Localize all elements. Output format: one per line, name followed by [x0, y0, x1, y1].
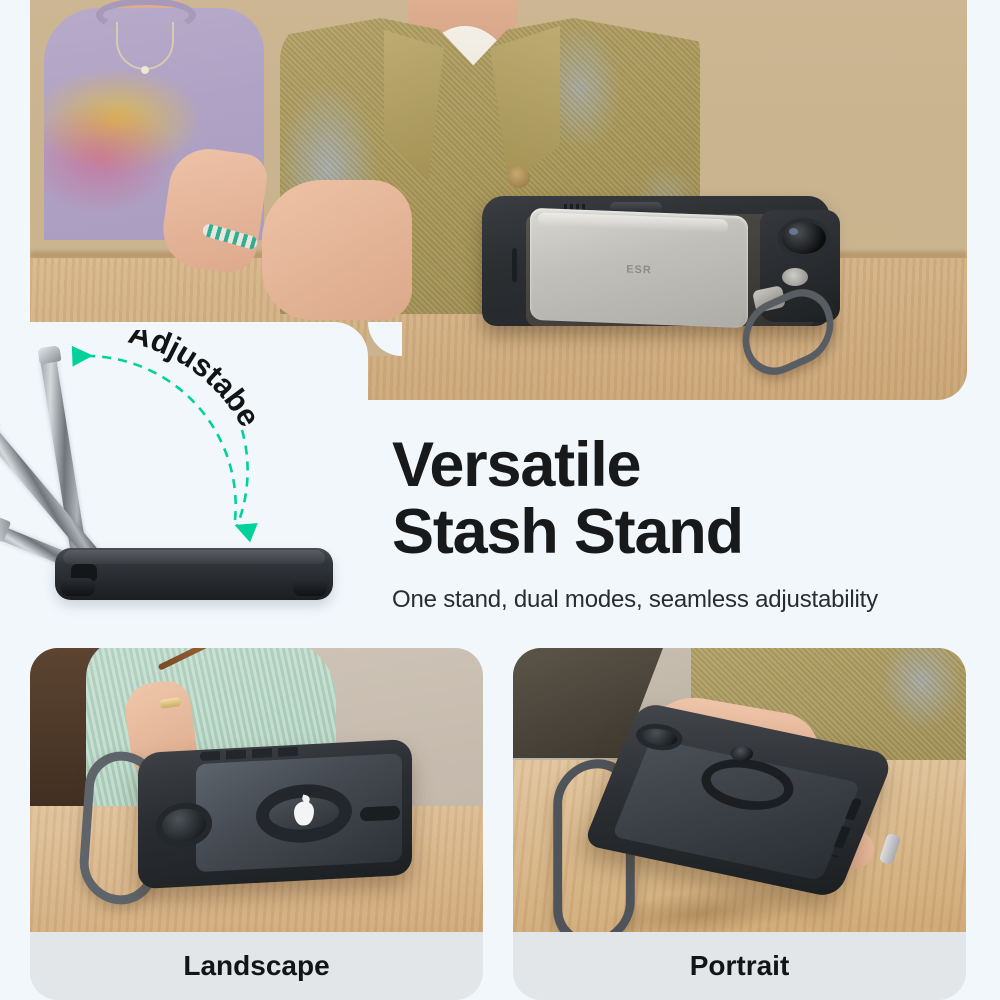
mode-cards: Landscape Portrait — [30, 648, 967, 1000]
dashed-arc-to-down-arrow — [237, 430, 248, 526]
card-landscape: Landscape — [30, 648, 483, 1000]
phone-in-case-landscape — [138, 739, 412, 889]
base-foot-right — [293, 578, 327, 596]
person-left — [38, 0, 268, 240]
pendant — [141, 66, 149, 74]
arm — [262, 180, 412, 320]
magnetic-power-bank: ESR — [530, 208, 748, 328]
ring — [879, 833, 902, 866]
card-caption-landscape: Landscape — [30, 932, 483, 1000]
accessory-slot — [360, 805, 400, 821]
card-photo — [513, 648, 966, 932]
adjustable-stand-diagram: Adjustabe — [30, 330, 380, 630]
side-button — [512, 248, 517, 282]
cardigan-button — [508, 166, 530, 188]
stand-base — [55, 548, 333, 600]
camera-lens-icon — [782, 222, 826, 254]
dashed-arc-to-left-arrow — [80, 356, 236, 520]
headline-block: Versatile Stash Stand One stand, dual mo… — [392, 432, 992, 614]
power-bank-highlight — [538, 212, 728, 233]
headline-subtitle: One stand, dual modes, seamless adjustab… — [392, 586, 992, 614]
card-photo — [30, 648, 483, 932]
base-foot-left — [61, 578, 95, 596]
base-top-surface — [63, 550, 325, 564]
ring — [160, 697, 181, 709]
apple-logo-icon — [294, 801, 314, 826]
headline-line-2: Stash Stand — [392, 497, 743, 567]
brand-logo: ESR — [626, 264, 652, 277]
phone-with-power-bank: ESR — [468, 188, 848, 378]
headline-line-1: Versatile — [392, 430, 640, 500]
arm-tip — [37, 345, 61, 364]
page-title: Versatile Stash Stand — [392, 432, 992, 566]
card-portrait: Portrait — [513, 648, 966, 1000]
card-caption-portrait: Portrait — [513, 932, 966, 1000]
stand-hinge-button — [782, 268, 808, 286]
